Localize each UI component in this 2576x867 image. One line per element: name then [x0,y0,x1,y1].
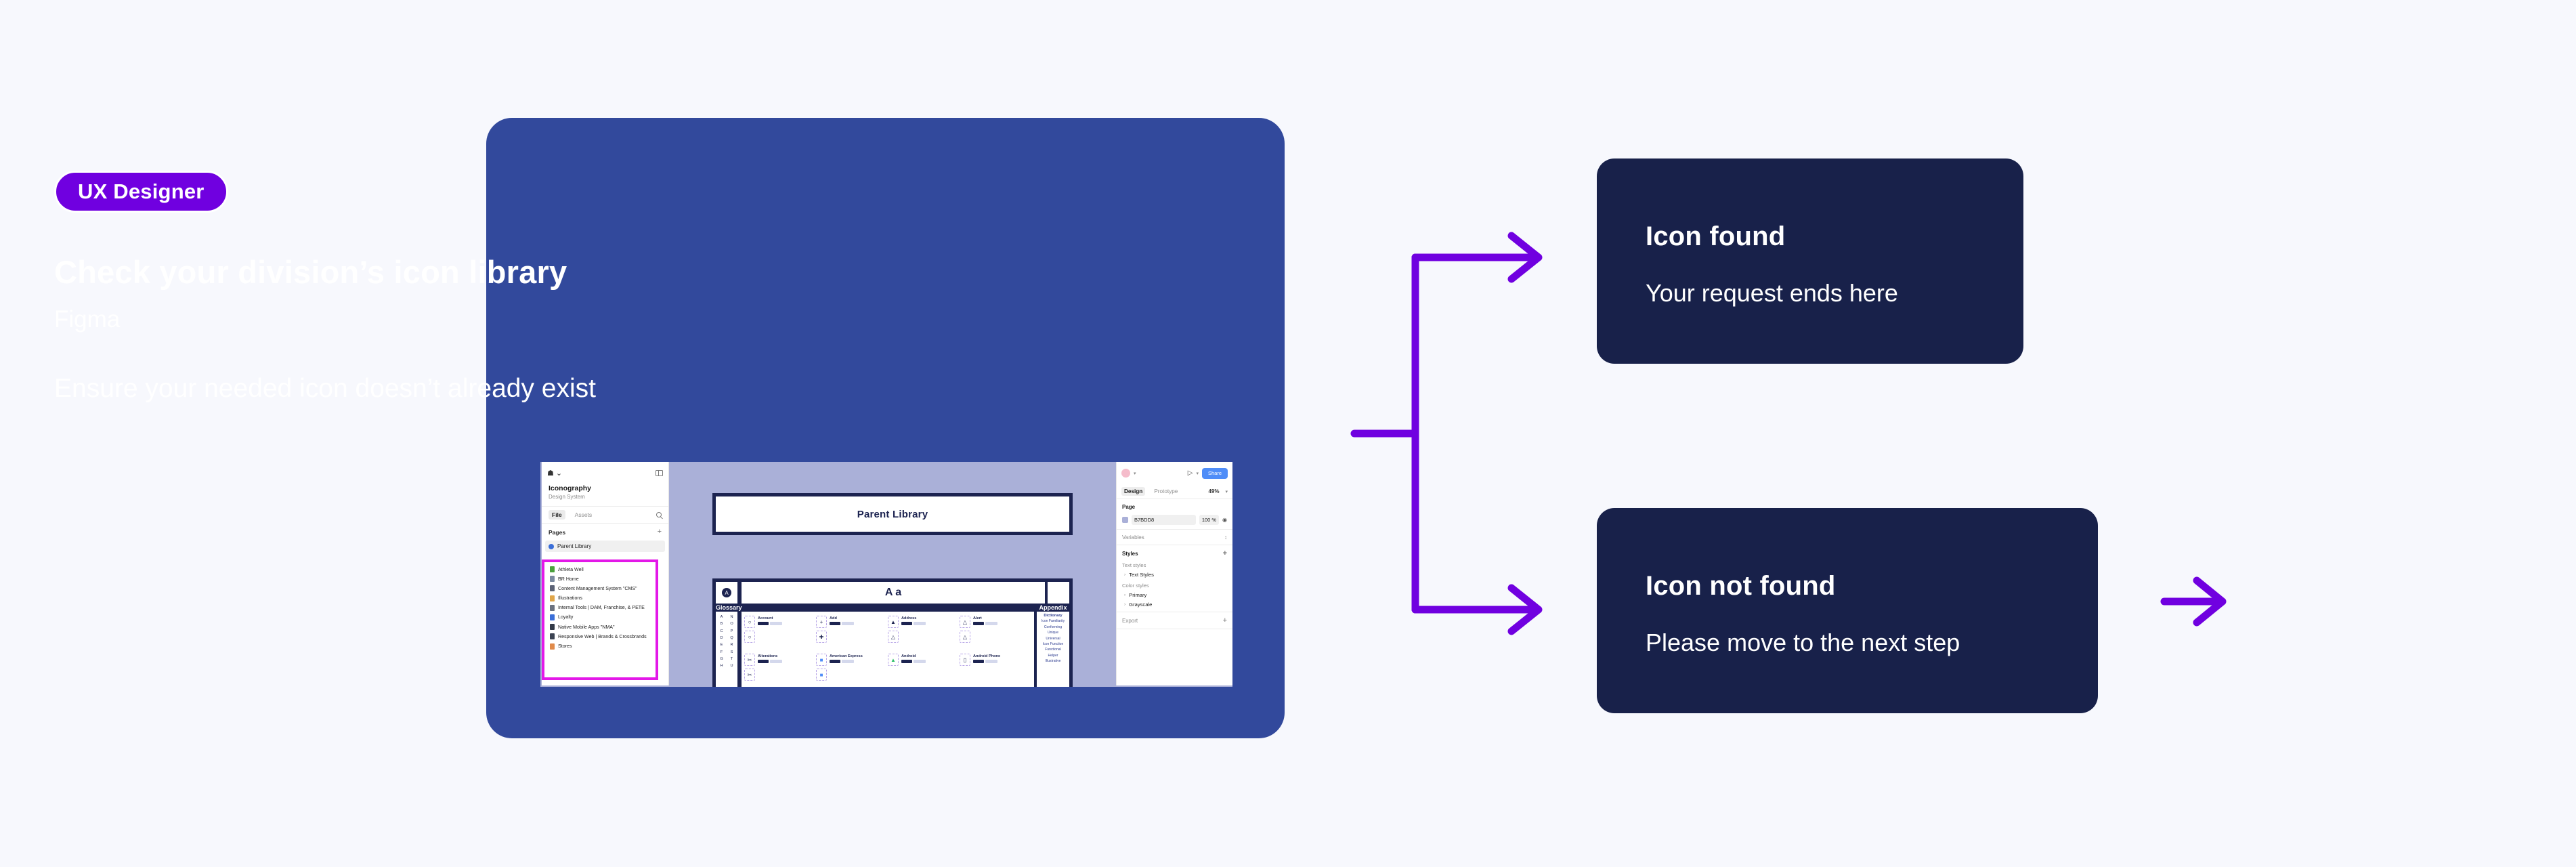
list-item-label: Stores [558,643,572,649]
icon-entry[interactable]: ▯ Android Phone [960,654,1031,687]
icon-name: Android [901,654,926,658]
chevron-down-icon[interactable]: ▾ [1196,471,1199,476]
appendix-item[interactable]: Icon Function [1043,642,1064,646]
panel-toggle-icon[interactable] [656,470,663,476]
icon-tags [973,622,997,625]
icon-entry[interactable]: ▲ △ Address [888,616,960,654]
tab-assets[interactable]: Assets [572,510,596,520]
icon-previews: ▯ [960,654,970,687]
layer-icon [550,633,555,639]
list-item-label: Loyalty [558,614,573,620]
icon-grid: ○ ○ Account [742,612,1034,687]
eye-icon[interactable]: ◉ [1222,517,1227,523]
text-styles-label: Text styles [1122,562,1227,568]
outcome-card-icon-found[interactable]: Icon found Your request ends here [1597,158,2023,364]
styles-section: Styles + Text styles › Text Styles Color… [1117,545,1232,612]
flow-canvas: UX Designer Check your division’s icon l… [0,0,2576,867]
tab-prototype[interactable]: Prototype [1151,487,1180,496]
icon-tag [985,622,997,625]
list-item[interactable]: Athleta Well [550,566,653,572]
layer-icon [550,614,555,620]
outcome-title: Icon not found [1646,571,1836,601]
list-item[interactable]: Internal Tools | DAM, Franchise, & PETE [550,605,653,611]
color-swatch[interactable] [1122,517,1128,523]
glossary-letter[interactable]: A [716,614,727,620]
icon-tag [842,622,854,625]
highlight-box: Athleta Well BR Home Content Management … [542,559,658,680]
style-item-label: Grayscale [1129,601,1152,608]
figma-file-name[interactable]: Iconography [542,484,668,492]
style-item-grayscale[interactable]: › Grayscale [1122,601,1227,608]
icon-tags [758,622,782,625]
styles-label: Styles [1122,551,1138,557]
icon-name: Android Phone [973,654,1000,658]
appendix-item[interactable]: Functional [1045,648,1061,652]
icon-tag [914,622,926,625]
play-icon[interactable]: ▷ [1188,470,1193,477]
icon-entry[interactable]: ■ ■ American Express [816,654,888,687]
plus-icon[interactable]: + [1223,550,1227,557]
step-title: Check your division’s icon library [54,253,745,291]
list-item[interactable]: Stores [550,643,653,650]
appendix-item[interactable]: Dictionary [1044,614,1062,618]
icon-name: Account [758,616,782,620]
step-description: Ensure your needed icon doesn’t already … [54,374,758,404]
role-badge: UX Designer [54,171,228,213]
glossary-letter[interactable]: U [727,662,737,669]
appendix-item[interactable]: Helper [1048,654,1058,658]
list-item-label: Illustrations [558,595,582,601]
step-tool-label: Figma [54,306,120,333]
icon-glyph-filled: ○ [744,616,755,628]
icon-glyph-outline: △ [888,631,899,643]
list-item-label: Content Management System "CMS" [558,586,637,591]
figma-canvas[interactable]: Parent Library A A a Glossary Appendix A… [669,462,1116,685]
export-section-title: Export + [1122,617,1227,625]
icon-previews: + ✚ [816,616,827,654]
outcome-subtitle: Your request ends here [1646,279,1898,308]
design-prototype-tabs: Design Prototype 49% ▾ [1117,484,1232,499]
icon-tag [901,622,912,625]
page-dot-icon [549,544,554,549]
layer-list: Athleta Well BR Home Content Management … [544,562,656,650]
variables-section: Variables ↕ [1117,530,1232,545]
glossary-letter[interactable]: B [716,620,727,627]
glossary-letter[interactable]: Q [727,635,737,641]
icon-glyph-filled: ▯ [960,654,970,666]
icon-tags [973,660,1000,663]
icon-entry[interactable]: ✂ ✂ Alterations [744,654,816,687]
icon-glyph-filled: ▲ [888,654,899,666]
glossary-letter[interactable]: E [716,641,727,648]
figma-logo-icon[interactable]: ☗ ⌄ [547,469,562,478]
icon-glyph-outline: ■ [816,669,827,681]
glossary-letter[interactable]: N [727,614,737,620]
appendix-item[interactable]: Universal [1046,637,1060,641]
figma-team-name: Design System [542,492,668,500]
style-item-label: Text Styles [1129,572,1154,578]
chevron-down-icon[interactable]: ▾ [1225,489,1228,494]
list-item[interactable]: Illustrations [550,595,653,601]
icon-glyph-filled: + [816,616,827,628]
style-item-text-styles[interactable]: › Text Styles [1122,572,1227,578]
icon-tags [830,660,863,663]
icon-glyph-outline: ✂ [744,669,755,681]
chevron-right-icon: › [1124,602,1125,607]
page-color-field[interactable]: B7BDD8 100 % ◉ [1122,515,1227,525]
list-item-label: BR Home [558,576,579,582]
outcome-card-icon-not-found[interactable]: Icon not found Please move to the next s… [1597,508,2098,713]
page-section: Page B7BDD8 100 % ◉ [1117,499,1232,530]
icon-entry[interactable]: ▲ Android [888,654,960,687]
icon-glyph-outline: ○ [744,631,755,643]
glossary-letter[interactable]: F [716,649,727,656]
icon-tag [830,660,840,663]
next-step-arrow-icon [2158,572,2232,631]
style-item-primary[interactable]: › Primary [1122,592,1227,598]
list-item[interactable]: Content Management System "CMS" [550,585,653,591]
icon-glyph-outline: △ [960,631,970,643]
icon-tag [914,660,926,663]
appendix-item[interactable]: Illustrative [1046,659,1061,663]
styles-section-title: Styles + [1122,550,1227,557]
icon-glyph-filled: ■ [816,654,827,666]
page-item-label: Parent Library [557,543,591,549]
icon-tag [770,622,782,625]
icon-entry[interactable]: + ✚ Add [816,616,888,654]
glossary-letter[interactable]: D [716,635,727,641]
glossary-letter[interactable]: T [727,656,737,662]
parent-library-frame[interactable]: Parent Library [712,493,1073,535]
glossary-letter[interactable]: P [727,628,737,635]
icon-glyph-filled: ▲ [888,616,899,628]
letter-badge-glyph: A [722,588,731,597]
appendix-item[interactable]: Icon Familiarity [1042,619,1065,623]
list-item-label: Internal Tools | DAM, Franchise, & PETE [558,605,645,610]
icon-tag [973,622,984,625]
glossary-letter[interactable]: O [727,620,737,627]
list-item[interactable]: Native Mobile Apps "NMA" [550,624,653,630]
page-section-title: Page [1122,504,1227,510]
glossary-label: Glossary [716,604,737,611]
plus-icon[interactable]: + [658,528,662,536]
figma-left-panel: ☗ ⌄ Iconography Design System File Asset… [542,462,669,685]
page-item-parent-library[interactable]: Parent Library [545,541,665,552]
plus-icon[interactable]: + [1223,617,1227,625]
icon-tags [830,622,854,625]
icon-previews: ■ ■ [816,654,827,687]
type-frame-title: A a [742,582,1045,604]
layer-icon [550,576,555,582]
icon-previews: △ △ [960,616,970,654]
figma-file-assets-tabs: File Assets [542,506,668,524]
appendix-label: Appendix [1037,604,1069,611]
icon-previews: ▲ △ [888,616,899,654]
color-hex-value[interactable]: B7BDD8 [1132,515,1196,525]
outcome-title: Icon found [1646,221,1785,252]
tab-file[interactable]: File [549,510,565,520]
icon-tags [901,660,926,663]
layer-icon [550,643,555,650]
chevron-down-icon[interactable]: ▾ [1134,471,1136,476]
branch-connector [1341,217,1564,637]
layer-icon [550,585,555,591]
letter-badge: A [716,582,737,604]
figma-screenshot-thumbnail[interactable]: ☗ ⌄ Iconography Design System File Asset… [540,462,1232,687]
icon-entry[interactable]: △ △ Alert [960,616,1031,654]
icon-tag [758,660,769,663]
glossary-letter[interactable]: S [727,649,737,656]
icon-name: Address [901,616,926,620]
icon-previews: ○ ○ [744,616,755,654]
icon-entry[interactable]: ○ ○ Account [744,616,816,654]
avatar[interactable] [1121,469,1130,478]
layer-icon [550,624,555,630]
style-item-label: Primary [1129,592,1146,598]
export-label: Export [1122,618,1138,624]
list-item[interactable]: BR Home [550,576,653,582]
icon-tag [842,660,854,663]
icon-tag [901,660,912,663]
opacity-field[interactable]: 100 % [1199,515,1219,525]
list-item-label: Athleta Well [558,567,584,572]
glossary-letter-column: A N B O C P D Q E R F S G T H [716,612,737,687]
glossary-letter[interactable]: C [716,628,727,635]
figma-right-topbar: ▾ ▷ ▾ Share [1117,462,1232,484]
figma-topbar: ☗ ⌄ [542,462,668,484]
glossary-frame[interactable]: A A a Glossary Appendix A N B O C P D Q [712,578,1073,687]
pages-label: Pages [549,529,565,536]
glossary-letter[interactable]: G [716,656,727,662]
icon-tags [901,622,926,625]
tab-design[interactable]: Design [1121,487,1145,496]
chevron-right-icon: › [1124,593,1125,597]
icon-glyph-outline: ✚ [816,631,827,643]
icon-glyph-filled: ✂ [744,654,755,666]
list-item[interactable]: Responsive Web | Brands & Crossbrands [550,633,653,639]
export-section: Export + [1117,612,1232,629]
list-item-label: Native Mobile Apps "NMA" [558,625,615,630]
parent-library-title: Parent Library [716,496,1069,532]
variables-section-title: Variables ↕ [1122,534,1227,541]
color-styles-label: Color styles [1122,583,1227,589]
appendix-item[interactable]: Unique [1048,631,1058,635]
figma-right-panel: ▾ ▷ ▾ Share Design Prototype 49% ▾ Page … [1116,462,1232,685]
icon-tag [973,660,984,663]
icon-tag [770,660,782,663]
opacity-value: 100 [1202,517,1211,523]
icon-name: American Express [830,654,863,658]
search-icon[interactable] [656,512,662,517]
appendix-item[interactable]: Conforming [1044,625,1062,629]
glossary-letter[interactable]: H [716,662,727,669]
icon-previews: ▲ [888,654,899,687]
icon-tag [985,660,997,663]
icon-tags [758,660,782,663]
appendix-column: Dictionary Icon Familiarity Conforming U… [1037,612,1069,687]
icon-name: Alterations [758,654,782,658]
list-item[interactable]: Loyalty [550,614,653,620]
icon-tag [830,622,840,625]
icon-tag [758,622,769,625]
layer-icon [550,595,555,601]
layer-icon [550,605,555,611]
variables-label: Variables [1122,534,1144,541]
pages-section-header: Pages + [542,524,668,541]
outcome-subtitle: Please move to the next step [1646,629,1960,657]
icon-name: Add [830,616,854,620]
icon-name: Alert [973,616,997,620]
list-item-label: Responsive Web | Brands & Crossbrands [558,634,647,639]
sliders-icon[interactable]: ↕ [1224,534,1227,541]
glossary-letter[interactable]: R [727,641,737,648]
chevron-right-icon: › [1124,572,1125,577]
blank-badge [1048,582,1069,604]
share-button[interactable]: Share [1202,468,1228,479]
icon-glyph-filled: △ [960,616,970,628]
layer-icon [550,566,555,572]
opacity-unit: % [1211,517,1216,523]
icon-previews: ✂ ✂ [744,654,755,687]
zoom-level[interactable]: 49% [1208,488,1219,494]
